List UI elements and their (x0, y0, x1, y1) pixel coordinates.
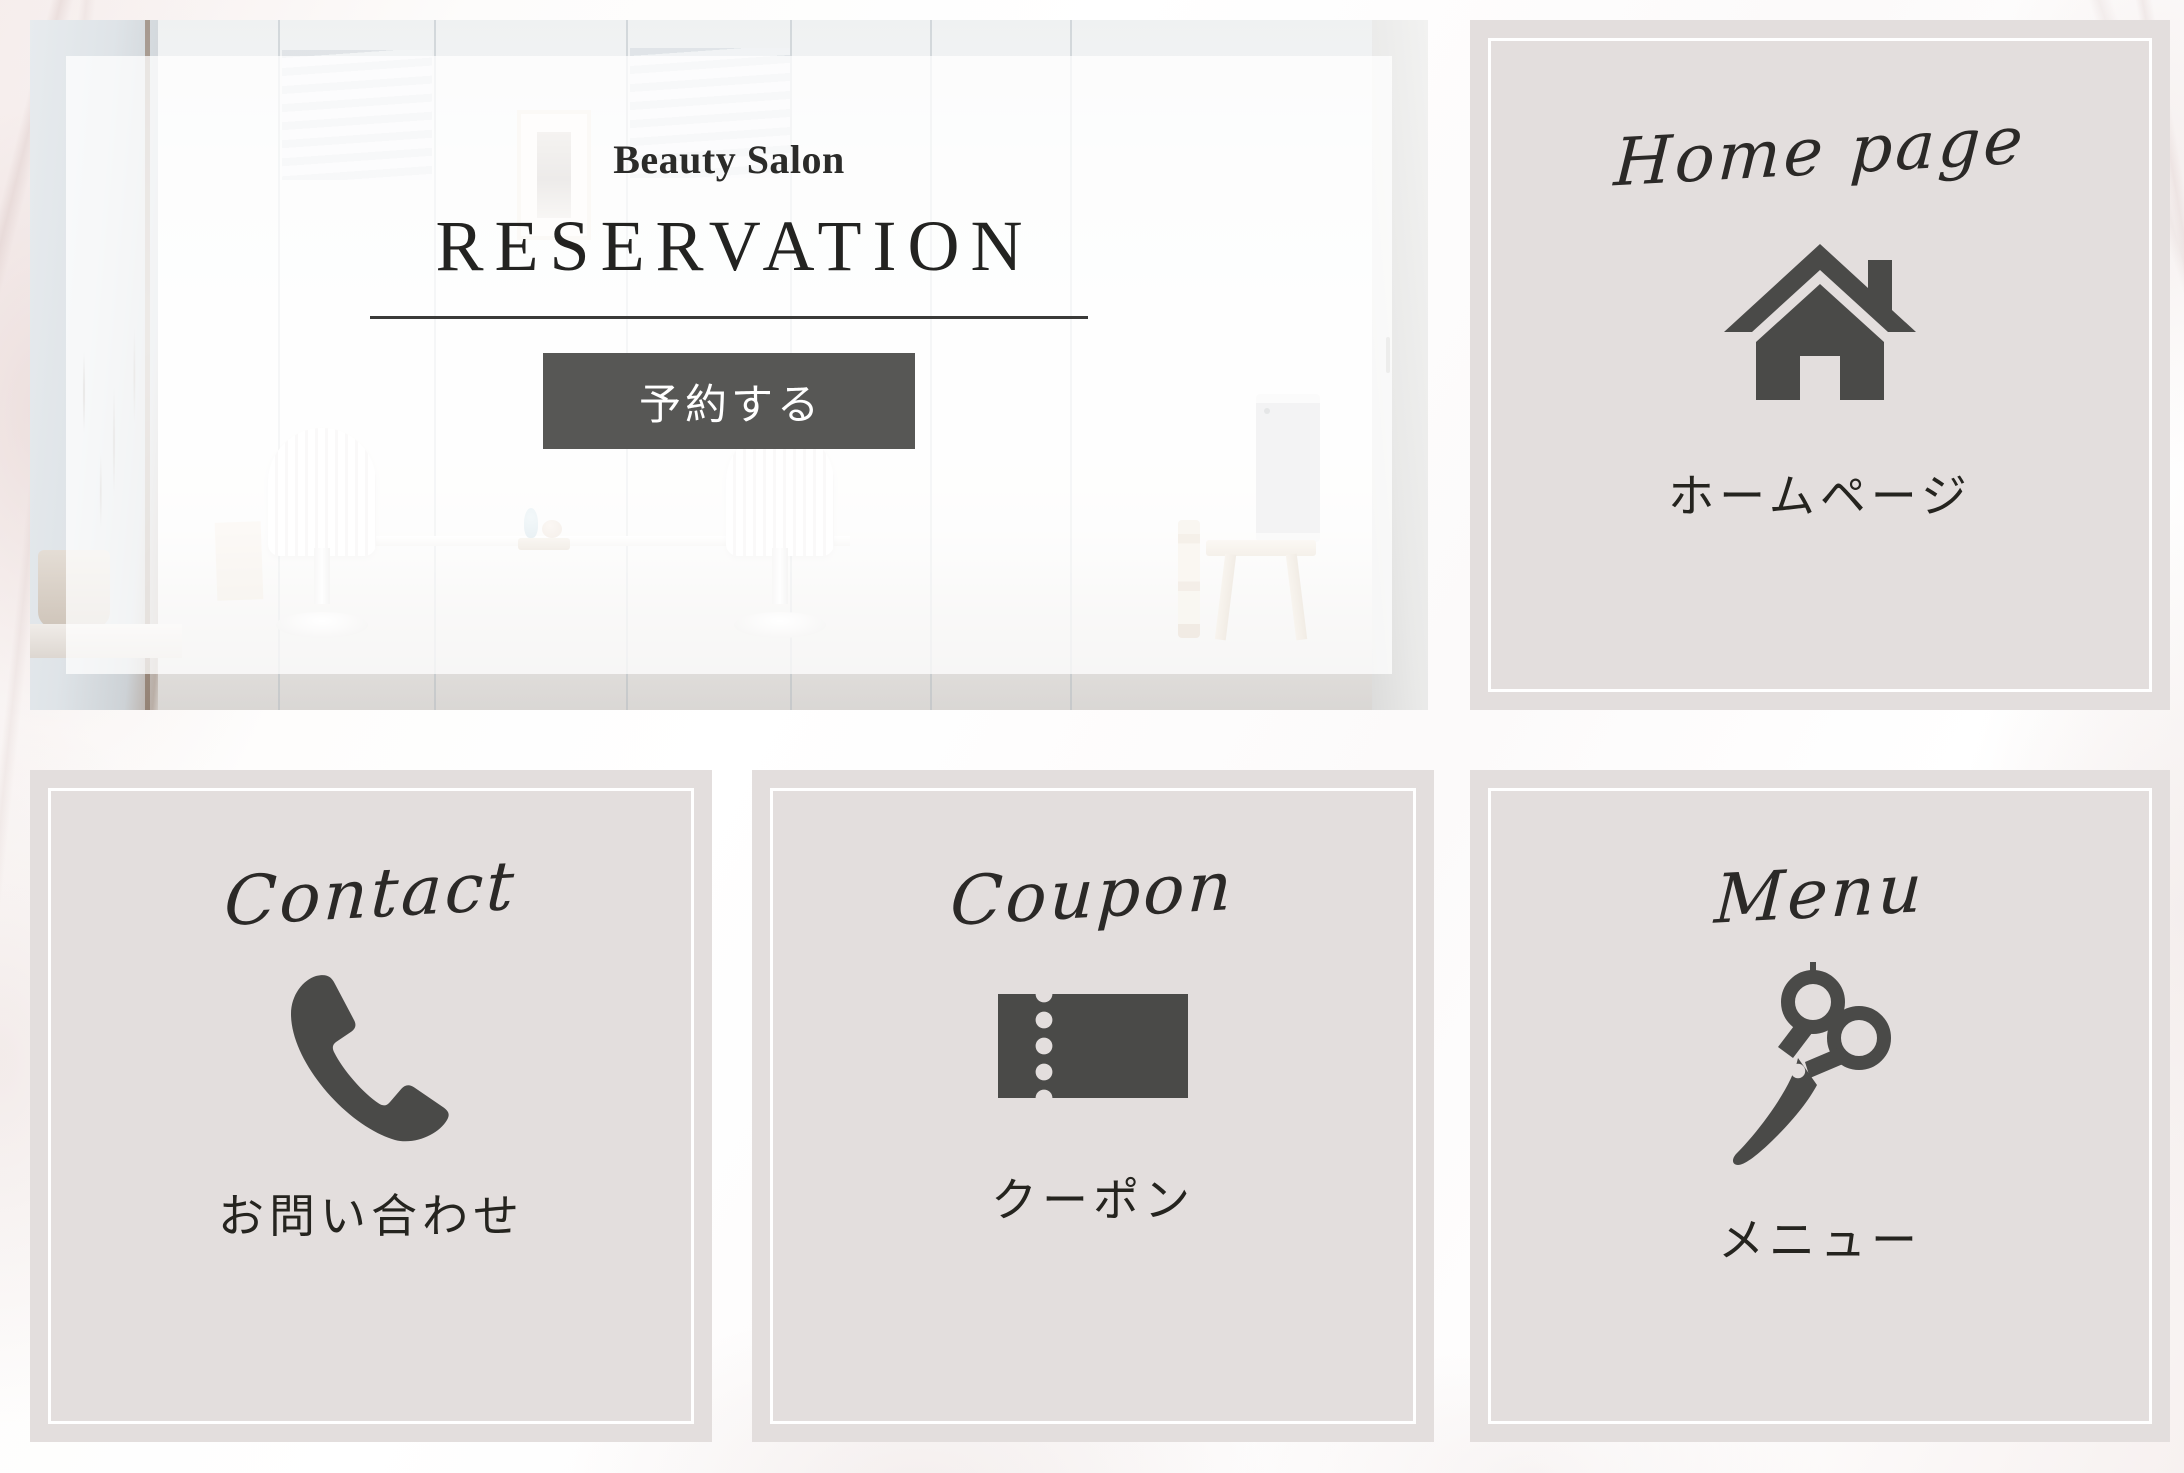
tile-home-page[interactable]: Home page ホームページ (1470, 20, 2170, 710)
tile-menu-script-label: Menu (1713, 849, 1927, 940)
house-icon (1720, 232, 1920, 408)
phone-icon (287, 970, 455, 1146)
reserve-button-label: 予約する (635, 371, 823, 432)
scissors-icon (1717, 958, 1923, 1170)
tile-coupon-inner: Coupon クーポン (770, 788, 1416, 1424)
ticket-icon (998, 994, 1188, 1098)
tile-contact-script-label: Contact (223, 847, 519, 942)
tile-menu-inner: Menu (1488, 788, 2152, 1424)
page-stage: Beauty Salon RESERVATION 予約する Home page … (0, 0, 2184, 1473)
tile-contact[interactable]: Contact お問い合わせ (30, 770, 712, 1442)
tile-home-page-inner: Home page ホームページ (1488, 38, 2152, 692)
tile-menu[interactable]: Menu (1470, 770, 2170, 1442)
hero-eyebrow: Beauty Salon (613, 136, 845, 183)
hero-title: RESERVATION (425, 205, 1034, 288)
tile-menu-jp-label: メニュー (1718, 1204, 1922, 1270)
tile-coupon-jp-label: クーポン (991, 1164, 1195, 1230)
tile-home-page-jp-label: ホームページ (1668, 460, 1972, 526)
tile-contact-jp-label: お問い合わせ (218, 1180, 524, 1246)
tile-home-page-script-label: Home page (1612, 102, 2027, 202)
tile-coupon[interactable]: Coupon クーポン (752, 770, 1434, 1442)
hero-reservation-banner[interactable]: Beauty Salon RESERVATION 予約する (30, 20, 1428, 710)
tile-contact-inner: Contact お問い合わせ (48, 788, 694, 1424)
tile-coupon-script-label: Coupon (949, 847, 1237, 942)
hero-divider (370, 316, 1088, 319)
hero-content: Beauty Salon RESERVATION 予約する (30, 20, 1428, 710)
reserve-button[interactable]: 予約する (543, 353, 915, 449)
